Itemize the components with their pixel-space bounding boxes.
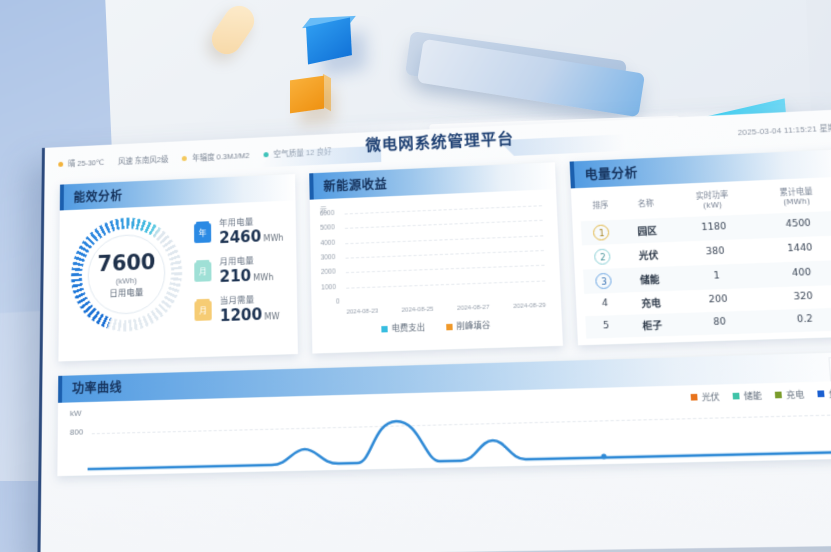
chart-x-axis: 2024-08-232024-08-252024-08-272024-08-29 [346, 303, 546, 316]
cell-realtime-power: 1 [674, 263, 760, 291]
chart-y-tick: 5000 [320, 225, 335, 233]
cell-name: 光伏 [623, 242, 674, 268]
solar-icon [182, 155, 187, 160]
cell-name: 园区 [622, 217, 673, 243]
col-cumulative-energy: 累计电量(MWh) [753, 183, 831, 214]
chart-y-tick: 1000 [321, 284, 336, 292]
status-weather: 晴 25-30℃ [58, 156, 104, 169]
cell-realtime-power: 200 [675, 287, 761, 312]
chart-y-tick: 4000 [320, 239, 335, 247]
legend-item-expense[interactable]: 电费支出 [381, 322, 425, 335]
sun-icon [58, 161, 63, 166]
title-wing-right [498, 134, 625, 156]
card-curve-title: 功率曲线 [72, 378, 122, 397]
status-wind-label: 风速 东南风2级 [118, 153, 168, 166]
curve-y-tick: 800 [70, 427, 83, 437]
rank-badge: 1 [593, 224, 610, 240]
gauge-label: 日用电量 [109, 285, 143, 298]
cell-cumulative-energy: 320 [760, 284, 831, 310]
status-datetime: 2025-03-04 11:15:21 星期二 [737, 121, 831, 137]
card-energy-analysis: 能效分析 7600 (kWh) 日用电量 [58, 174, 297, 361]
cell-name: 充电 [625, 290, 676, 314]
chart-x-tick: 2024-08-23 [346, 308, 378, 315]
stat-yearly-unit: MWh [263, 233, 283, 243]
air-icon [263, 152, 268, 157]
chart-y-zero: 0 [336, 298, 340, 305]
col-realtime-power: 实时功率(kW) [670, 187, 755, 218]
calendar-demand-icon: 月 [194, 300, 211, 320]
cell-cumulative-energy: 4500 [755, 211, 831, 239]
dashboard-stage: 微电网系统管理平台 晴 25-30℃ 风速 东南风2级 年辐度 0.3MJ/M2… [0, 0, 831, 481]
card-new-energy-revenue: 新能源收益 元 100020003000400050006000 0 2024-… [309, 162, 563, 353]
rank-badge: 2 [594, 248, 611, 264]
legend-item-peak-shaving[interactable]: 削峰填谷 [446, 319, 491, 332]
gauge-value: 7600 [97, 249, 155, 276]
cell-cumulative-energy: 0.2 [761, 307, 831, 333]
cell-cumulative-energy: 400 [758, 260, 831, 288]
chart-y-tick: 2000 [321, 269, 336, 277]
legend-swatch-expense [381, 325, 387, 332]
cell-rank: 5 [585, 315, 628, 339]
card-energy-title: 能效分析 [74, 186, 123, 205]
status-radiation-label: 年辐度 0.3MJ/M2 [192, 149, 249, 163]
stat-monthly-value: 210 [219, 266, 251, 286]
status-weather-label: 晴 25-30℃ [68, 156, 104, 169]
cell-rank: 3 [583, 268, 626, 294]
card-revenue-body: 元 100020003000400050006000 0 2024-08-232… [309, 189, 562, 345]
cell-rank: 4 [584, 292, 627, 316]
dashboard-window: 微电网系统管理平台 晴 25-30℃ 风速 东南风2级 年辐度 0.3MJ/M2… [37, 109, 831, 552]
cell-realtime-power: 1180 [671, 214, 756, 242]
daily-energy-gauge: 7600 (kWh) 日用电量 [71, 215, 183, 333]
legend-label-expense: 电费支出 [391, 322, 425, 335]
card-table-body: 排序 名称 实时功率(kW) 累计电量(MWh) 1园区118045002光伏3… [570, 177, 831, 346]
card-power-curve: 功率曲线 kW 800 光伏 储能 充电 [57, 352, 831, 476]
cell-realtime-power: 380 [673, 238, 759, 266]
chart-y-tick: 3000 [321, 254, 336, 262]
cell-rank: 1 [580, 219, 622, 245]
chart-plot-area: 100020003000400050006000 [344, 206, 545, 303]
calendar-month-icon: 月 [194, 261, 211, 281]
chart-y-tick: 6000 [320, 210, 335, 218]
energy-stat-list: 年 年用电量 2460MWh 月 月用电量 210MWh [190, 214, 285, 326]
stat-monthly-demand: 月 当月需量 1200MW [194, 292, 284, 326]
cell-name: 储能 [624, 266, 675, 292]
cell-realtime-power: 80 [677, 310, 763, 335]
stat-yearly-value: 2460 [219, 227, 261, 247]
chart-x-tick: 2024-08-29 [513, 303, 546, 310]
card-energy-body: 7600 (kWh) 日用电量 年 年用电量 2460MWh [59, 200, 298, 346]
cell-name: 柜子 [626, 313, 678, 337]
table-body: 1园区118045002光伏38014403储能14004充电2003205柜子… [580, 211, 831, 339]
chart-x-tick: 2024-08-25 [401, 307, 433, 314]
stat-monthly-unit: MWh [253, 273, 273, 283]
cell-rank: 2 [582, 244, 624, 270]
rank-badge: 3 [596, 273, 613, 289]
cards-row: 能效分析 7600 (kWh) 日用电量 [43, 144, 831, 362]
revenue-bar-chart: 元 100020003000400050006000 0 2024-08-232… [320, 198, 551, 323]
chart-x-tick: 2024-08-27 [457, 305, 490, 312]
status-wind: 风速 东南风2级 [118, 153, 168, 166]
status-radiation: 年辐度 0.3MJ/M2 [182, 149, 249, 163]
gauge-unit: (kWh) [116, 275, 137, 285]
cell-cumulative-energy: 1440 [757, 235, 831, 263]
chart-bars [344, 206, 545, 303]
calendar-year-icon: 年 [194, 223, 211, 243]
stat-yearly-consumption: 年 年用电量 2460MWh [194, 214, 284, 248]
stat-demand-value: 1200 [220, 305, 263, 325]
stat-demand-unit: MW [264, 312, 279, 322]
stat-monthly-consumption: 月 月用电量 210MWh [194, 253, 284, 287]
col-name: 名称 [620, 190, 671, 219]
power-analysis-table: 排序 名称 实时功率(kW) 累计电量(MWh) 1园区118045002光伏3… [579, 183, 831, 338]
card-table-title: 电量分析 [584, 163, 638, 183]
card-revenue-title: 新能源收益 [323, 174, 387, 194]
col-rank: 排序 [579, 193, 621, 222]
card-power-analysis: 电量分析 排序 名称 实时功率(kW) 累计电量(MWh) 1园区1180450… [569, 149, 831, 345]
legend-swatch-peak-shaving [446, 323, 453, 330]
legend-label-peak-shaving: 削峰填谷 [456, 319, 490, 332]
